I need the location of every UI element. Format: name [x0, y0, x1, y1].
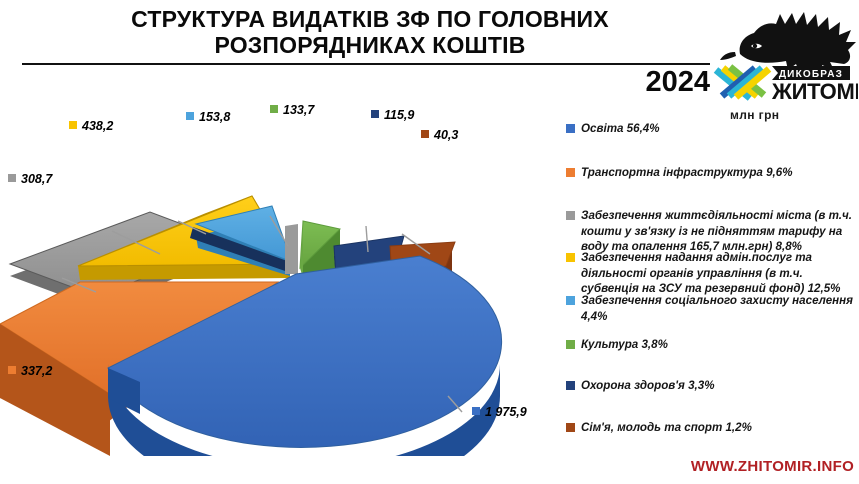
legend-label: Забезпечення соціального захисту населен…: [566, 293, 856, 324]
legend-swatch-simya-molod-sport: [566, 423, 575, 432]
legend-item-okhorona-zdorovya[interactable]: Охорона здоров'я 3,3%: [566, 378, 856, 394]
legend-item-soc-zakhyst[interactable]: Забезпечення соціального захисту населен…: [566, 293, 856, 324]
data-label-swatch: [421, 130, 429, 138]
legend-label: Освіта 56,4%: [566, 121, 856, 137]
data-label-orange: 337,2: [8, 365, 52, 378]
pie-slice-grey-column: [285, 224, 298, 274]
legend-label: Забезпечення життєдіяльності міста (в т.…: [566, 208, 856, 255]
data-label-swatch: [186, 112, 194, 120]
title-divider: [22, 63, 710, 65]
data-label-blue: 1 975,9: [472, 406, 527, 419]
legend-swatch-admin-poslugy: [566, 253, 575, 262]
legend-item-transport[interactable]: Транспортна інфраструктура 9,6%: [566, 165, 856, 181]
pie-chart-svg: [0, 96, 556, 456]
data-label-gray: 308,7: [8, 173, 52, 186]
data-label-brown: 40,3: [421, 129, 458, 142]
data-label-yellow: 438,2: [69, 120, 113, 133]
logo-city-text: ЖИТОМИР: [771, 79, 858, 102]
porcupine-icon: [720, 12, 856, 75]
legend-swatch-transport: [566, 168, 575, 177]
x-mark-icon: [716, 67, 769, 98]
legend-item-zhyttediyalnist[interactable]: Забезпечення життєдіяльності міста (в т.…: [566, 208, 856, 255]
legend-label: Забезпечення надання адмін.послуг та дія…: [566, 250, 856, 297]
data-label-swatch: [472, 407, 480, 415]
chart-legend: млн грн Освіта 56,4% Транспортна інфраст…: [560, 108, 859, 448]
legend-swatch-osvita: [566, 124, 575, 133]
legend-label: Сім'я, молодь та спорт 1,2%: [566, 420, 856, 436]
data-label-navy: 115,9: [371, 109, 414, 122]
logo-svg: ДИКОБРАЗ ЖИТОМИР: [710, 2, 858, 102]
data-label-swatch: [371, 110, 379, 118]
legend-item-simya-molod-sport[interactable]: Сім'я, молодь та спорт 1,2%: [566, 420, 856, 436]
data-label-swatch: [8, 174, 16, 182]
data-label-swatch: [270, 105, 278, 113]
dikobraz-zhytomyr-logo: ДИКОБРАЗ ЖИТОМИР: [710, 2, 858, 102]
site-watermark: WWW.ZHITOMIR.INFO: [690, 458, 855, 475]
legend-label: Транспортна інфраструктура 9,6%: [566, 165, 856, 181]
units-label: млн грн: [730, 108, 779, 122]
legend-swatch-kultura: [566, 340, 575, 349]
year-label: 2024: [560, 66, 710, 99]
legend-item-admin-poslugy[interactable]: Забезпечення надання адмін.послуг та дія…: [566, 250, 856, 297]
data-label-green: 133,7: [270, 104, 314, 117]
legend-label: Культура 3,8%: [566, 337, 856, 353]
legend-swatch-zhyttediyalnist: [566, 211, 575, 220]
data-label-swatch: [69, 121, 77, 129]
legend-item-osvita[interactable]: Освіта 56,4%: [566, 121, 856, 137]
legend-label: Охорона здоров'я 3,3%: [566, 378, 856, 394]
legend-swatch-soc-zakhyst: [566, 296, 575, 305]
data-label-swatch: [8, 366, 16, 374]
pie-chart: 308,7 438,2 153,8 133,7 115,9 40,3 337,2…: [0, 96, 556, 456]
page-title: СТРУКТУРА ВИДАТКІВ ЗФ ПО ГОЛОВНИХ РОЗПОР…: [30, 6, 710, 58]
legend-item-kultura[interactable]: Культура 3,8%: [566, 337, 856, 353]
legend-swatch-okhorona-zdorovya: [566, 381, 575, 390]
data-label-lightblue: 153,8: [186, 111, 230, 124]
